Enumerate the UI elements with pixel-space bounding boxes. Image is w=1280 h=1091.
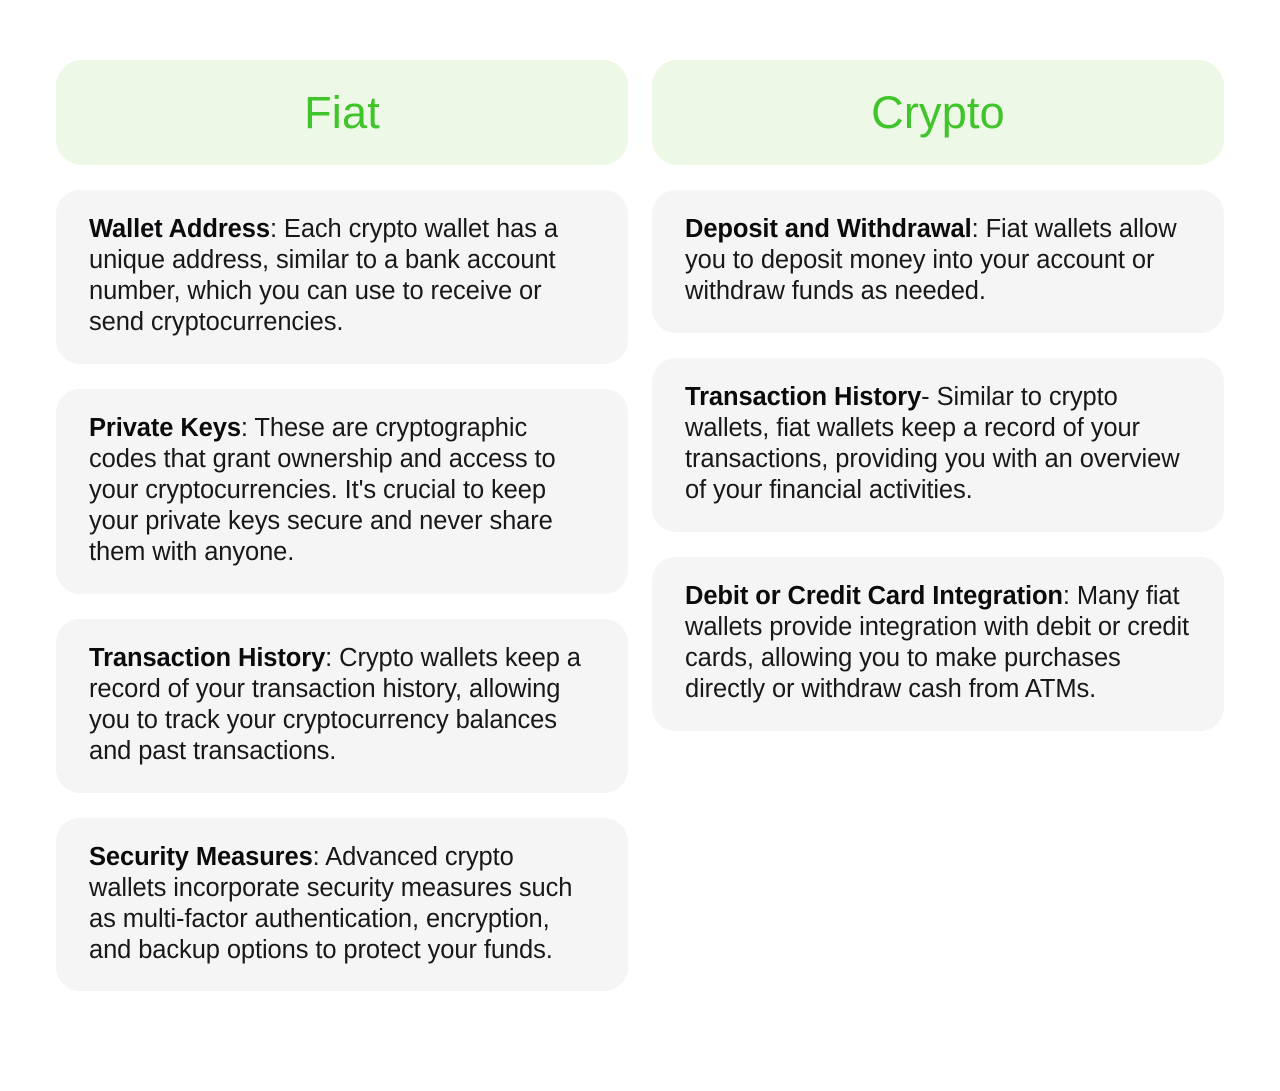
list-item: Transaction History: Crypto wallets keep… [56,619,628,793]
card-text: Wallet Address: Each crypto wallet has a… [89,214,594,338]
card-term: Transaction History [89,644,325,672]
card-term: Wallet Address [89,215,270,243]
card-separator: : [972,215,986,243]
list-item: Deposit and Withdrawal: Fiat wallets all… [652,190,1224,333]
column-header-label-fiat: Fiat [304,90,380,135]
card-text: Private Keys: These are cryptographic co… [89,413,594,568]
card-separator: : [1063,582,1077,610]
card-term: Deposit and Withdrawal [685,215,972,243]
column-header-fiat: Fiat [56,60,628,165]
list-item: Private Keys: These are cryptographic co… [56,389,628,594]
card-separator: : [270,215,284,243]
list-item: Transaction History- Similar to crypto w… [652,358,1224,532]
card-text: Transaction History- Similar to crypto w… [685,382,1190,506]
card-text: Debit or Credit Card Integration: Many f… [685,581,1190,705]
card-separator: : [241,414,255,442]
card-separator: : [325,644,339,672]
card-separator: : [313,843,326,871]
list-item: Wallet Address: Each crypto wallet has a… [56,190,628,364]
card-text: Deposit and Withdrawal: Fiat wallets all… [685,214,1190,307]
card-term: Security Measures [89,843,313,871]
card-separator: - [921,383,936,411]
card-text: Transaction History: Crypto wallets keep… [89,643,594,767]
column-fiat: Fiat Wallet Address: Each crypto wallet … [56,60,628,1016]
card-text: Security Measures: Advanced crypto walle… [89,842,594,966]
column-header-crypto: Crypto [652,60,1224,165]
card-term: Private Keys [89,414,241,442]
column-header-label-crypto: Crypto [871,90,1005,135]
comparison-board: Fiat Wallet Address: Each crypto wallet … [0,0,1280,1091]
card-term: Transaction History [685,383,921,411]
list-item: Security Measures: Advanced crypto walle… [56,818,628,992]
column-crypto: Crypto Deposit and Withdrawal: Fiat wall… [652,60,1224,756]
list-item: Debit or Credit Card Integration: Many f… [652,557,1224,731]
card-term: Debit or Credit Card Integration [685,582,1063,610]
